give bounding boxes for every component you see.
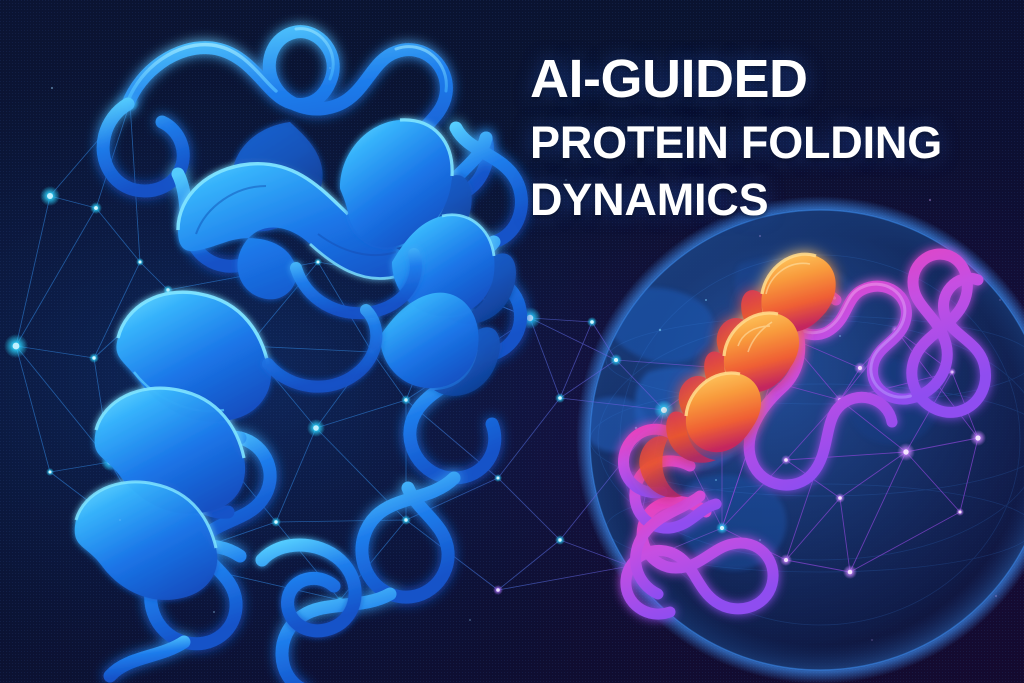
poster-canvas: AI-GUIDED PROTEIN FOLDING DYNAMICS (0, 0, 1024, 683)
sparkle-layer (0, 0, 1024, 683)
